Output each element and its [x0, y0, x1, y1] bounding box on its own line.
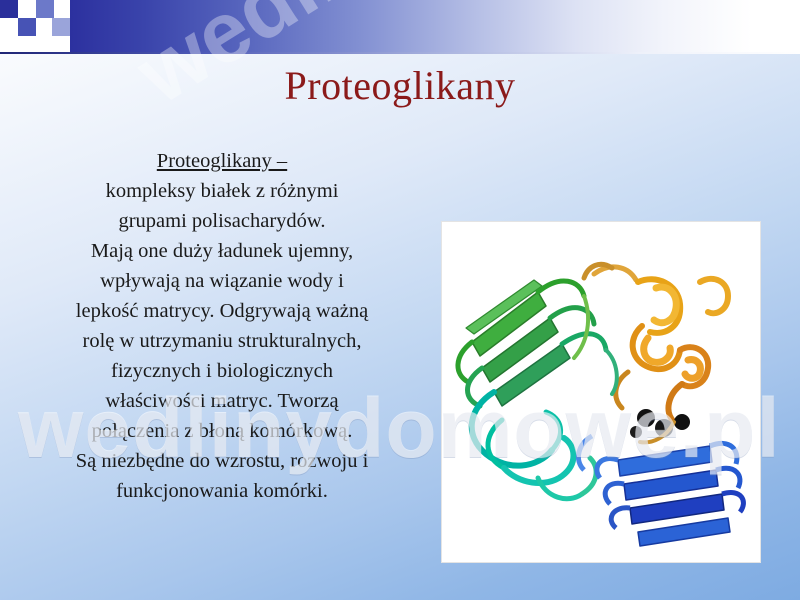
body-line: Mają one duży ładunek ujemny,: [22, 236, 422, 266]
body-line: lepkość matrycy. Odgrywają ważną: [22, 296, 422, 326]
body-line: kompleksy białek z różnymi: [22, 176, 422, 206]
checker-square: [18, 18, 36, 36]
body-line: rolę w utrzymaniu strukturalnych,: [22, 326, 422, 356]
body-line: funkcjonowania komórki.: [22, 476, 422, 506]
body-line: Są niezbędne do wzrostu, rozwoju i: [22, 446, 422, 476]
header-checker-block: [0, 0, 70, 54]
checker-square: [0, 0, 18, 18]
slide-body-text: Proteoglikany – kompleksy białek z różny…: [22, 146, 422, 506]
body-line: Proteoglikany –: [22, 146, 422, 176]
protein-structure-image: [442, 222, 760, 562]
body-line: właściwości matryc. Tworzą: [22, 386, 422, 416]
body-line: fizycznych i biologicznych: [22, 356, 422, 386]
slide-header-bar: [0, 0, 800, 54]
body-line: połączenia z błoną komórkową.: [22, 416, 422, 446]
checker-square: [36, 0, 54, 18]
protein-image-panel: [442, 222, 760, 562]
checker-square: [52, 18, 70, 36]
body-line: grupami polisacharydów.: [22, 206, 422, 236]
page-title: Proteoglikany: [0, 62, 800, 109]
header-bottom-strip: [0, 52, 800, 54]
body-line: wpływają na wiązanie wody i: [22, 266, 422, 296]
slide: Proteoglikany Proteoglikany – kompleksy …: [0, 0, 800, 600]
